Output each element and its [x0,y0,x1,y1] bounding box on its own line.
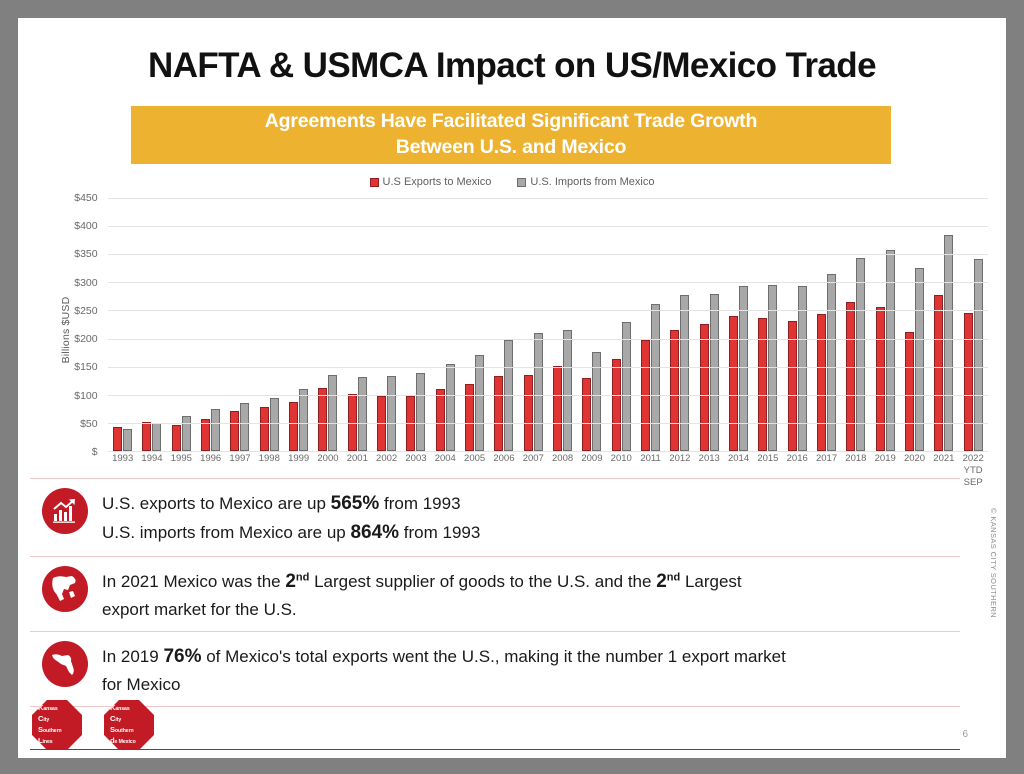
key-fact-line: In 2019 76% of Mexico's total exports we… [102,643,786,672]
y-axis-tick: $50 [80,418,104,430]
x-axis-label-line: 1994 [137,453,166,465]
logo-text-line: Kansas [110,703,130,714]
y-axis-tick: $450 [74,192,103,204]
x-axis-label-line: 1996 [196,453,225,465]
bar-exports[interactable] [700,324,709,451]
key-fact-text-part: 2 [656,571,667,592]
gridline: $250 [108,310,988,311]
banner-line-1: Agreements Have Facilitated Significant … [265,109,757,135]
x-axis-label-line: 1999 [284,453,313,465]
bar-group [636,198,665,451]
x-axis-label-line: 2014 [724,453,753,465]
bar-exports[interactable] [142,422,151,451]
bar-group [871,198,900,451]
key-fact-line: export market for the U.S. [102,597,742,623]
y-axis-title: Billions $USD [60,270,72,390]
bar-imports[interactable] [563,330,572,451]
x-axis-label-line: 2013 [695,453,724,465]
x-axis-label-line: 2016 [783,453,812,465]
bar-group [929,198,958,451]
bar-group [460,198,489,451]
gridline: $400 [108,226,988,227]
bar-exports[interactable] [260,407,269,451]
key-fact-text: In 2021 Mexico was the 2nd Largest suppl… [102,566,742,622]
bar-imports[interactable] [944,235,953,451]
chart-legend: U.S Exports to MexicoU.S. Imports from M… [28,176,996,188]
y-axis-tick: $ [92,446,104,458]
x-axis-label-line: 2005 [460,453,489,465]
x-axis-label-line: 2021 [929,453,958,465]
gridline: $350 [108,254,988,255]
bar-exports[interactable] [524,375,533,451]
x-axis-label-line: 2004 [431,453,460,465]
y-axis-tick: $250 [74,305,103,317]
bar-group [343,198,372,451]
x-axis-label: 2022YTDSEP [959,453,988,489]
bar-exports[interactable] [494,376,503,451]
key-fact-text-part: from 1993 [399,523,480,542]
bar-group [225,198,254,451]
bar-exports[interactable] [670,330,679,451]
bar-imports[interactable] [446,364,455,451]
x-axis-label-line: 2011 [636,453,665,465]
key-fact-text-part: Largest [680,572,741,591]
key-fact-text-part: 76% [163,646,201,667]
bar-imports[interactable] [299,389,308,451]
bar-imports[interactable] [710,294,719,451]
key-fact-text-part: U.S. imports from Mexico are up [102,523,350,542]
bar-imports[interactable] [123,429,132,451]
x-axis-label-line: 2002 [372,453,401,465]
key-fact-text-part: In 2019 [102,647,163,666]
bar-imports[interactable] [886,250,895,451]
logo-text-line: City [110,714,121,725]
key-fact-row: In 2019 76% of Mexico's total exports we… [30,632,960,707]
mexico-map-icon [42,641,88,687]
bar-imports[interactable] [416,373,425,451]
legend-label: U.S Exports to Mexico [383,176,492,188]
bar-exports[interactable] [289,402,298,451]
legend-swatch-icon [370,178,379,187]
bar-imports[interactable] [152,423,161,451]
chart-plot-area: $$50$100$150$200$250$300$350$400$450 [108,198,988,451]
x-axis-label-line: 2006 [489,453,518,465]
bar-group [313,198,342,451]
ordinal-suffix: nd [667,571,680,583]
x-axis-label-line: 2017 [812,453,841,465]
page-title: NAFTA & USMCA Impact on US/Mexico Trade [18,46,1006,86]
subtitle-banner: Agreements Have Facilitated Significant … [131,106,891,164]
key-fact-text-part: U.S. exports to Mexico are up [102,494,331,513]
bar-group [841,198,870,451]
key-fact-text-part: from 1993 [379,494,460,513]
gridline: $100 [108,395,988,396]
key-fact-line: U.S. exports to Mexico are up 565% from … [102,490,480,519]
kansas-city-southern-de-mexico-logo: KansasCitySouthernde Mexico [104,700,154,750]
y-axis-tick: $100 [74,390,103,402]
bar-groups [108,198,988,451]
bar-group [167,198,196,451]
kansas-city-southern-lines-logo: KansasCitySouthernLines [32,700,82,750]
north-america-map-icon [42,566,88,612]
bar-exports[interactable] [436,389,445,451]
gridline: $300 [108,282,988,283]
bar-group [431,198,460,451]
logo-text-line: Lines [38,736,53,747]
bar-exports[interactable] [788,321,797,451]
key-fact-text-part: Largest supplier of goods to the U.S. an… [309,572,656,591]
x-axis-label-line: YTD [959,465,988,477]
bar-exports[interactable] [934,295,943,451]
bar-group [137,198,166,451]
bar-exports[interactable] [729,316,738,451]
bar-group [108,198,137,451]
logo-group: KansasCitySouthernLinesKansasCitySouther… [32,700,154,750]
bar-exports[interactable] [230,411,239,451]
x-axis-label-line: 2012 [665,453,694,465]
x-axis-label-line: 2008 [548,453,577,465]
y-axis-tick: $300 [74,277,103,289]
bar-exports[interactable] [612,359,621,451]
bar-group [753,198,782,451]
bar-imports[interactable] [475,355,484,451]
bar-imports[interactable] [240,403,249,451]
logo-text-line: City [38,714,49,725]
bar-imports[interactable] [182,416,191,451]
x-axis-label-line: 1998 [255,453,284,465]
bar-exports[interactable] [846,302,855,451]
bar-exports[interactable] [582,378,591,451]
bar-exports[interactable] [905,332,914,451]
x-axis-label-line: 2010 [607,453,636,465]
bar-group [548,198,577,451]
key-fact-row: U.S. exports to Mexico are up 565% from … [30,478,960,557]
bar-group [284,198,313,451]
bar-exports[interactable] [172,425,181,451]
key-fact-text: U.S. exports to Mexico are up 565% from … [102,488,480,547]
legend-item[interactable]: U.S. Imports from Mexico [517,176,654,188]
bar-imports[interactable] [211,409,220,451]
x-axis-label-line: 2019 [871,453,900,465]
gridline: $ [108,451,988,452]
x-axis-label-line: 2015 [753,453,782,465]
key-fact-text-part: export market for the U.S. [102,600,297,619]
gridline: $150 [108,367,988,368]
bar-imports[interactable] [827,274,836,451]
bar-group [577,198,606,451]
bar-imports[interactable] [534,333,543,451]
x-axis-label-line: 2001 [343,453,372,465]
bar-group [900,198,929,451]
bar-imports[interactable] [651,304,660,451]
bar-imports[interactable] [358,377,367,451]
bar-exports[interactable] [964,313,973,451]
bar-exports[interactable] [113,427,122,451]
key-fact-text: In 2019 76% of Mexico's total exports we… [102,641,786,697]
logo-text-line: Kansas [38,703,58,714]
bar-group [372,198,401,451]
legend-item[interactable]: U.S Exports to Mexico [370,176,492,188]
bar-group [196,198,225,451]
bottom-divider [30,749,960,751]
banner-line-2: Between U.S. and Mexico [396,135,627,161]
key-fact-line: U.S. imports from Mexico are up 864% fro… [102,519,480,548]
bar-group [959,198,988,451]
bar-group [812,198,841,451]
gridline: $200 [108,339,988,340]
x-axis-label-line: 2009 [577,453,606,465]
key-fact-row: In 2021 Mexico was the 2nd Largest suppl… [30,557,960,632]
trade-bar-chart: Billions $USD U.S Exports to MexicoU.S. … [28,176,996,501]
key-fact-text-part: for Mexico [102,675,180,694]
bar-imports[interactable] [270,398,279,451]
x-axis-label-line: 2022 [959,453,988,465]
x-axis-label-line: 1995 [167,453,196,465]
bar-group [695,198,724,451]
bar-imports[interactable] [387,376,396,451]
x-axis-label-line: 2003 [401,453,430,465]
gridline: $50 [108,423,988,424]
bar-imports[interactable] [622,322,631,451]
gridline: $450 [108,198,988,199]
legend-swatch-icon [517,178,526,187]
key-fact-text-part: 565% [331,493,380,514]
slide: NAFTA & USMCA Impact on US/Mexico Trade … [18,18,1006,758]
bar-group [724,198,753,451]
x-axis-label-line: SEP [959,477,988,489]
bar-exports[interactable] [465,384,474,451]
page-number: 6 [962,729,968,740]
bar-group [255,198,284,451]
growth-chart-icon [42,488,88,534]
bar-exports[interactable] [553,366,562,451]
bar-group [489,198,518,451]
x-axis-label-line: 2000 [313,453,342,465]
key-fact-line: for Mexico [102,672,786,698]
y-axis-tick: $200 [74,333,103,345]
bar-exports[interactable] [318,388,327,451]
bar-imports[interactable] [680,295,689,451]
bar-exports[interactable] [817,314,826,451]
copyright-text: © KANSAS CITY SOUTHERN [989,508,998,618]
key-fact-text-part: 864% [350,522,399,543]
x-axis-label-line: 2018 [841,453,870,465]
logo-text-line: Southern [38,725,62,736]
bar-group [783,198,812,451]
bar-exports[interactable] [876,307,885,451]
legend-label: U.S. Imports from Mexico [530,176,654,188]
key-fact-text-part: 2 [285,571,296,592]
y-axis-tick: $400 [74,220,103,232]
bar-imports[interactable] [328,375,337,451]
logo-text-line: de Mexico [110,736,136,747]
x-axis-label-line: 1993 [108,453,137,465]
bar-group [401,198,430,451]
key-fact-text-part: of Mexico's total exports went the U.S.,… [201,647,785,666]
bar-group [519,198,548,451]
bar-group [607,198,636,451]
ordinal-suffix: nd [296,571,309,583]
y-axis-tick: $150 [74,361,103,373]
x-axis-label-line: 1997 [225,453,254,465]
bar-group [665,198,694,451]
y-axis-tick: $350 [74,248,103,260]
x-axis-label-line: 2020 [900,453,929,465]
key-fact-line: In 2021 Mexico was the 2nd Largest suppl… [102,568,742,597]
key-facts-list: U.S. exports to Mexico are up 565% from … [30,478,960,707]
key-fact-text-part: In 2021 Mexico was the [102,572,285,591]
logo-text-line: Southern [110,725,134,736]
x-axis-label-line: 2007 [519,453,548,465]
